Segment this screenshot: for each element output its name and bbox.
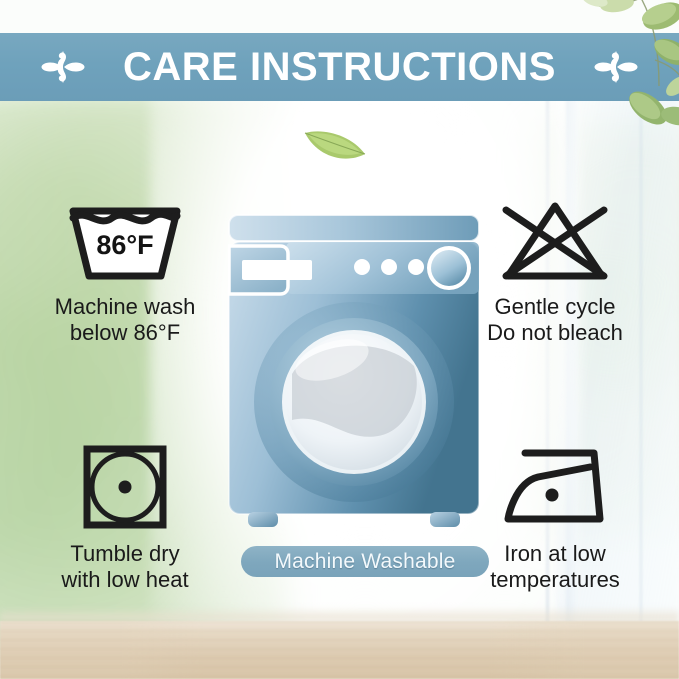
care-symbol-machine-wash: 86°F Machine wash below 86°F xyxy=(25,196,225,346)
care-symbol-caption: Machine wash below 86°F xyxy=(25,294,225,346)
indicator-light xyxy=(381,259,397,275)
washer-door xyxy=(254,302,454,502)
washing-machine-illustration xyxy=(228,214,480,530)
header-banner: CARE INSTRUCTIONS xyxy=(0,33,679,101)
care-symbol-caption: Gentle cycle Do not bleach xyxy=(455,294,655,346)
indicator-light xyxy=(354,259,370,275)
fleur-de-lis-ornament-left xyxy=(32,45,94,89)
machine-foot xyxy=(430,512,460,527)
crossed-triangle-icon xyxy=(490,196,620,286)
wood-grain-texture xyxy=(0,621,679,679)
machine-washable-badge-label: Machine Washable xyxy=(274,551,455,572)
page-title: CARE INSTRUCTIONS xyxy=(123,47,556,87)
indicator-light xyxy=(408,259,424,275)
wash-temperature-value: 86°F xyxy=(96,230,153,260)
wood-table-edge xyxy=(0,607,679,621)
tumble-dry-low-icon xyxy=(60,443,190,533)
machine-foot xyxy=(248,512,278,527)
wash-tub-icon: 86°F xyxy=(60,196,190,286)
iron-one-dot-icon xyxy=(490,443,620,533)
care-instructions-infographic: CARE INSTRUCTIONS xyxy=(0,0,679,679)
machine-washable-badge: Machine Washable xyxy=(241,546,489,577)
fleur-de-lis-ornament-right xyxy=(585,45,647,89)
control-knob xyxy=(427,246,471,290)
care-symbol-caption: Tumble dry with low heat xyxy=(25,541,225,593)
care-symbol-tumble-dry: Tumble dry with low heat xyxy=(25,443,225,593)
care-symbol-no-bleach: Gentle cycle Do not bleach xyxy=(455,196,655,346)
